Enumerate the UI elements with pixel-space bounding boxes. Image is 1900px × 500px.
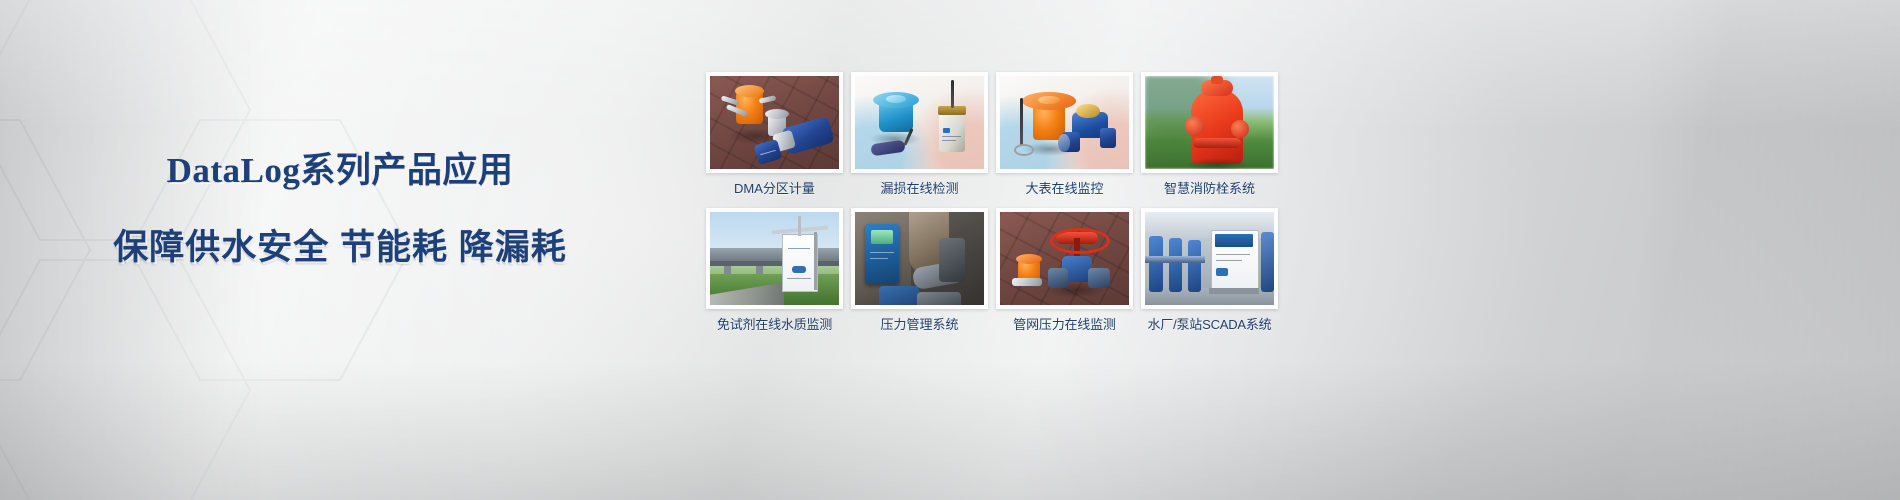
dma-metering-photo (706, 72, 843, 173)
product-application-banner: DataLog系列产品应用 保障供水安全 节能耗 降漏耗 (0, 0, 1900, 500)
product-caption: 智慧消防栓系统 (1141, 182, 1278, 196)
product-grid: DMA分区计量 (706, 72, 1286, 333)
product-card-pressure-management[interactable]: 压力管理系统 (851, 208, 988, 332)
bulk-meter-monitoring-photo (996, 72, 1133, 173)
product-card-dma-metering[interactable]: DMA分区计量 (706, 72, 843, 196)
product-caption: 免试剂在线水质监测 (706, 318, 843, 332)
product-caption: 大表在线监控 (996, 182, 1133, 196)
reagent-free-water-quality-photo (706, 208, 843, 309)
product-caption: 压力管理系统 (851, 318, 988, 332)
leak-detection-photo (851, 72, 988, 173)
product-caption: 水厂/泵站SCADA系统 (1141, 318, 1278, 332)
product-card-smart-hydrant[interactable]: 智慧消防栓系统 (1141, 72, 1278, 196)
product-card-scada[interactable]: 水厂/泵站SCADA系统 (1141, 208, 1278, 332)
waterworks-scada-photo (1141, 208, 1278, 309)
product-card-bulk-meter[interactable]: 大表在线监控 (996, 72, 1133, 196)
product-card-pipe-pressure[interactable]: 管网压力在线监测 (996, 208, 1133, 332)
product-card-leak-detection[interactable]: 漏损在线检测 (851, 72, 988, 196)
headline-line-1: DataLog系列产品应用 (0, 142, 680, 193)
product-card-water-quality[interactable]: 免试剂在线水质监测 (706, 208, 843, 332)
headline-block: DataLog系列产品应用 保障供水安全 节能耗 降漏耗 (0, 142, 680, 270)
smart-hydrant-photo (1141, 72, 1278, 173)
product-caption: 漏损在线检测 (851, 182, 988, 196)
product-caption: DMA分区计量 (706, 182, 843, 196)
pressure-management-photo (851, 208, 988, 309)
product-caption: 管网压力在线监测 (996, 318, 1133, 332)
headline-line-2: 保障供水安全 节能耗 降漏耗 (0, 219, 680, 270)
pipe-pressure-monitoring-photo (996, 208, 1133, 309)
